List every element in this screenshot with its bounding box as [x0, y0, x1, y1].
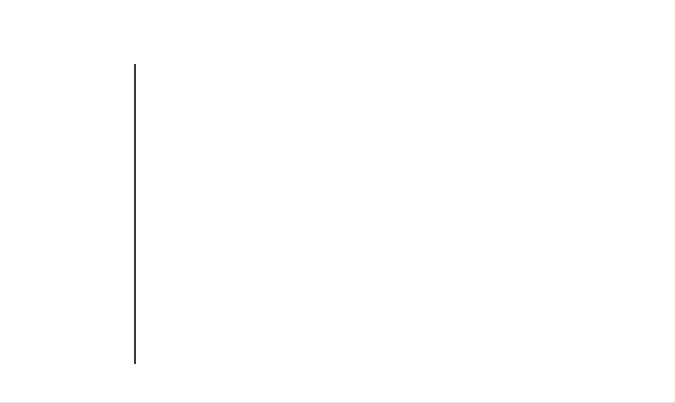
- waterfall-chart-figure: [0, 0, 675, 403]
- plot-area: [134, 64, 554, 364]
